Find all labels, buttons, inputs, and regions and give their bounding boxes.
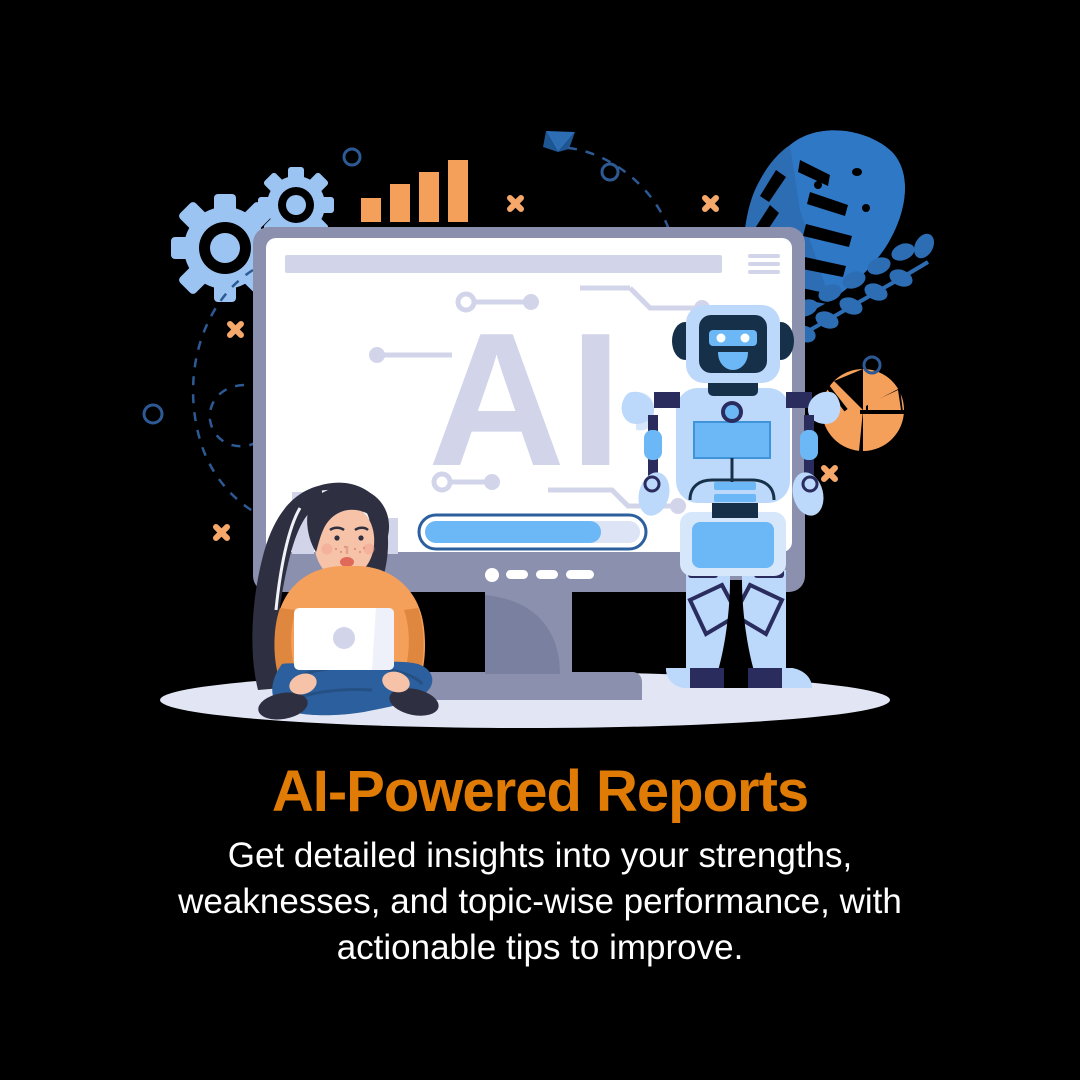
decor-bar-chart <box>361 160 468 222</box>
monitor-base <box>410 672 642 700</box>
screen-ai-label: AI <box>428 294 626 506</box>
robot-eye-bar <box>709 330 757 346</box>
page-title: AI-Powered Reports <box>0 762 1080 823</box>
page-subtitle: Get detailed insights into your strength… <box>135 833 945 972</box>
robot-chest-panel <box>694 422 770 458</box>
address-bar[interactable] <box>285 255 722 273</box>
progress-bar <box>419 515 646 549</box>
laptop <box>294 608 394 670</box>
text-block: AI-Powered Reports Get detailed insights… <box>0 762 1080 971</box>
hamburger-menu-icon[interactable] <box>748 254 780 274</box>
poster-root: AI <box>0 0 1080 1080</box>
ai-reports-illustration: AI <box>0 0 1080 760</box>
